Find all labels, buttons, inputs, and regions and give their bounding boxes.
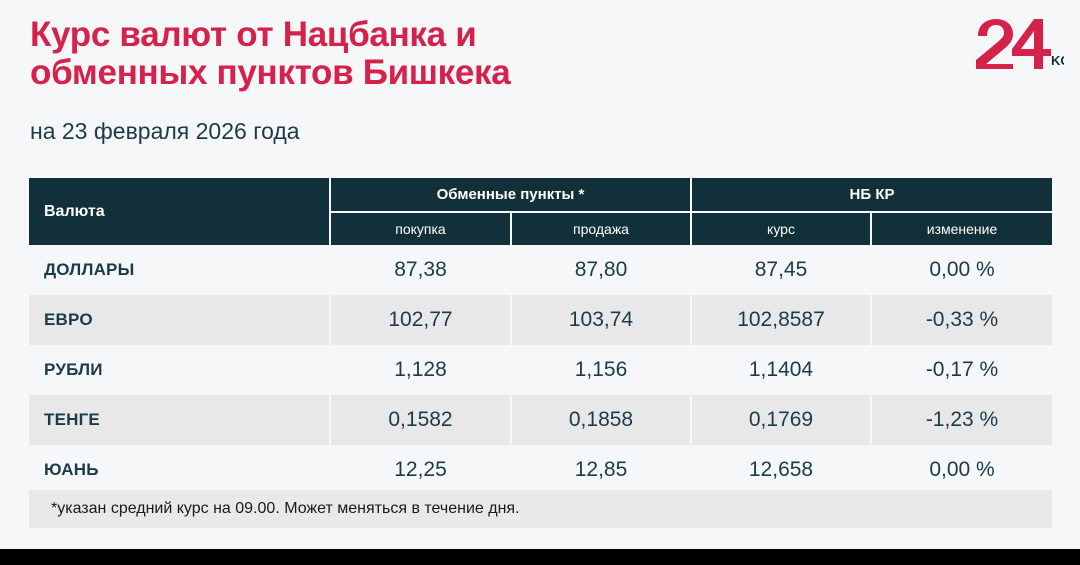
- exchange-rate-table: Валюта Обменные пункты * НБ КР покупка п…: [29, 178, 1052, 495]
- cell-change: -0,17 %: [871, 345, 1052, 395]
- cell-currency: ЮАНЬ: [29, 445, 330, 495]
- logo-mark-icon: KG: [972, 18, 1064, 70]
- col-header-currency: Валюта: [29, 178, 330, 245]
- table-row: ЮАНЬ 12,25 12,85 12,658 0,00 %: [29, 445, 1052, 495]
- cell-sell: 12,85: [511, 445, 691, 495]
- cell-rate: 87,45: [691, 245, 871, 295]
- cell-buy: 0,1582: [330, 395, 511, 445]
- cell-currency: ДОЛЛАРЫ: [29, 245, 330, 295]
- cell-sell: 1,156: [511, 345, 691, 395]
- cell-change: 0,00 %: [871, 245, 1052, 295]
- col-header-sell: продажа: [511, 212, 691, 245]
- cell-change: -0,33 %: [871, 295, 1052, 345]
- cell-rate: 12,658: [691, 445, 871, 495]
- 24kg-logo: KG: [972, 18, 1064, 70]
- cell-currency: ЕВРО: [29, 295, 330, 345]
- header: Курс валют от Нацбанка и обменных пункто…: [30, 16, 990, 92]
- cell-rate: 102,8587: [691, 295, 871, 345]
- table-header-group-row: Валюта Обменные пункты * НБ КР: [29, 178, 1052, 212]
- cell-sell: 87,80: [511, 245, 691, 295]
- table-row: ДОЛЛАРЫ 87,38 87,80 87,45 0,00 %: [29, 245, 1052, 295]
- table-body: ДОЛЛАРЫ 87,38 87,80 87,45 0,00 % ЕВРО 10…: [29, 245, 1052, 495]
- table-header: Валюта Обменные пункты * НБ КР покупка п…: [29, 178, 1052, 245]
- col-header-buy: покупка: [330, 212, 511, 245]
- cell-change: 0,00 %: [871, 445, 1052, 495]
- col-header-rate: курс: [691, 212, 871, 245]
- cell-change: -1,23 %: [871, 395, 1052, 445]
- cell-sell: 0,1858: [511, 395, 691, 445]
- bottom-bar: [0, 549, 1080, 565]
- page-title: Курс валют от Нацбанка и обменных пункто…: [30, 16, 990, 92]
- cell-buy: 102,77: [330, 295, 511, 345]
- col-group-exchange-offices: Обменные пункты *: [330, 178, 691, 212]
- table-row: РУБЛИ 1,128 1,156 1,1404 -0,17 %: [29, 345, 1052, 395]
- infographic-page: Курс валют от Нацбанка и обменных пункто…: [0, 0, 1080, 549]
- cell-currency: ТЕНГЕ: [29, 395, 330, 445]
- cell-rate: 1,1404: [691, 345, 871, 395]
- page-subtitle: на 23 февраля 2026 года: [30, 118, 300, 144]
- col-header-change: изменение: [871, 212, 1052, 245]
- cell-currency: РУБЛИ: [29, 345, 330, 395]
- cell-buy: 12,25: [330, 445, 511, 495]
- col-group-national-bank: НБ КР: [691, 178, 1052, 212]
- table-row: ТЕНГЕ 0,1582 0,1858 0,1769 -1,23 %: [29, 395, 1052, 445]
- cell-sell: 103,74: [511, 295, 691, 345]
- cell-buy: 87,38: [330, 245, 511, 295]
- logo-suffix: KG: [1051, 53, 1064, 68]
- cell-buy: 1,128: [330, 345, 511, 395]
- table-row: ЕВРО 102,77 103,74 102,8587 -0,33 %: [29, 295, 1052, 345]
- table-footnote: *указан средний курс на 09.00. Может мен…: [29, 490, 1052, 528]
- cell-rate: 0,1769: [691, 395, 871, 445]
